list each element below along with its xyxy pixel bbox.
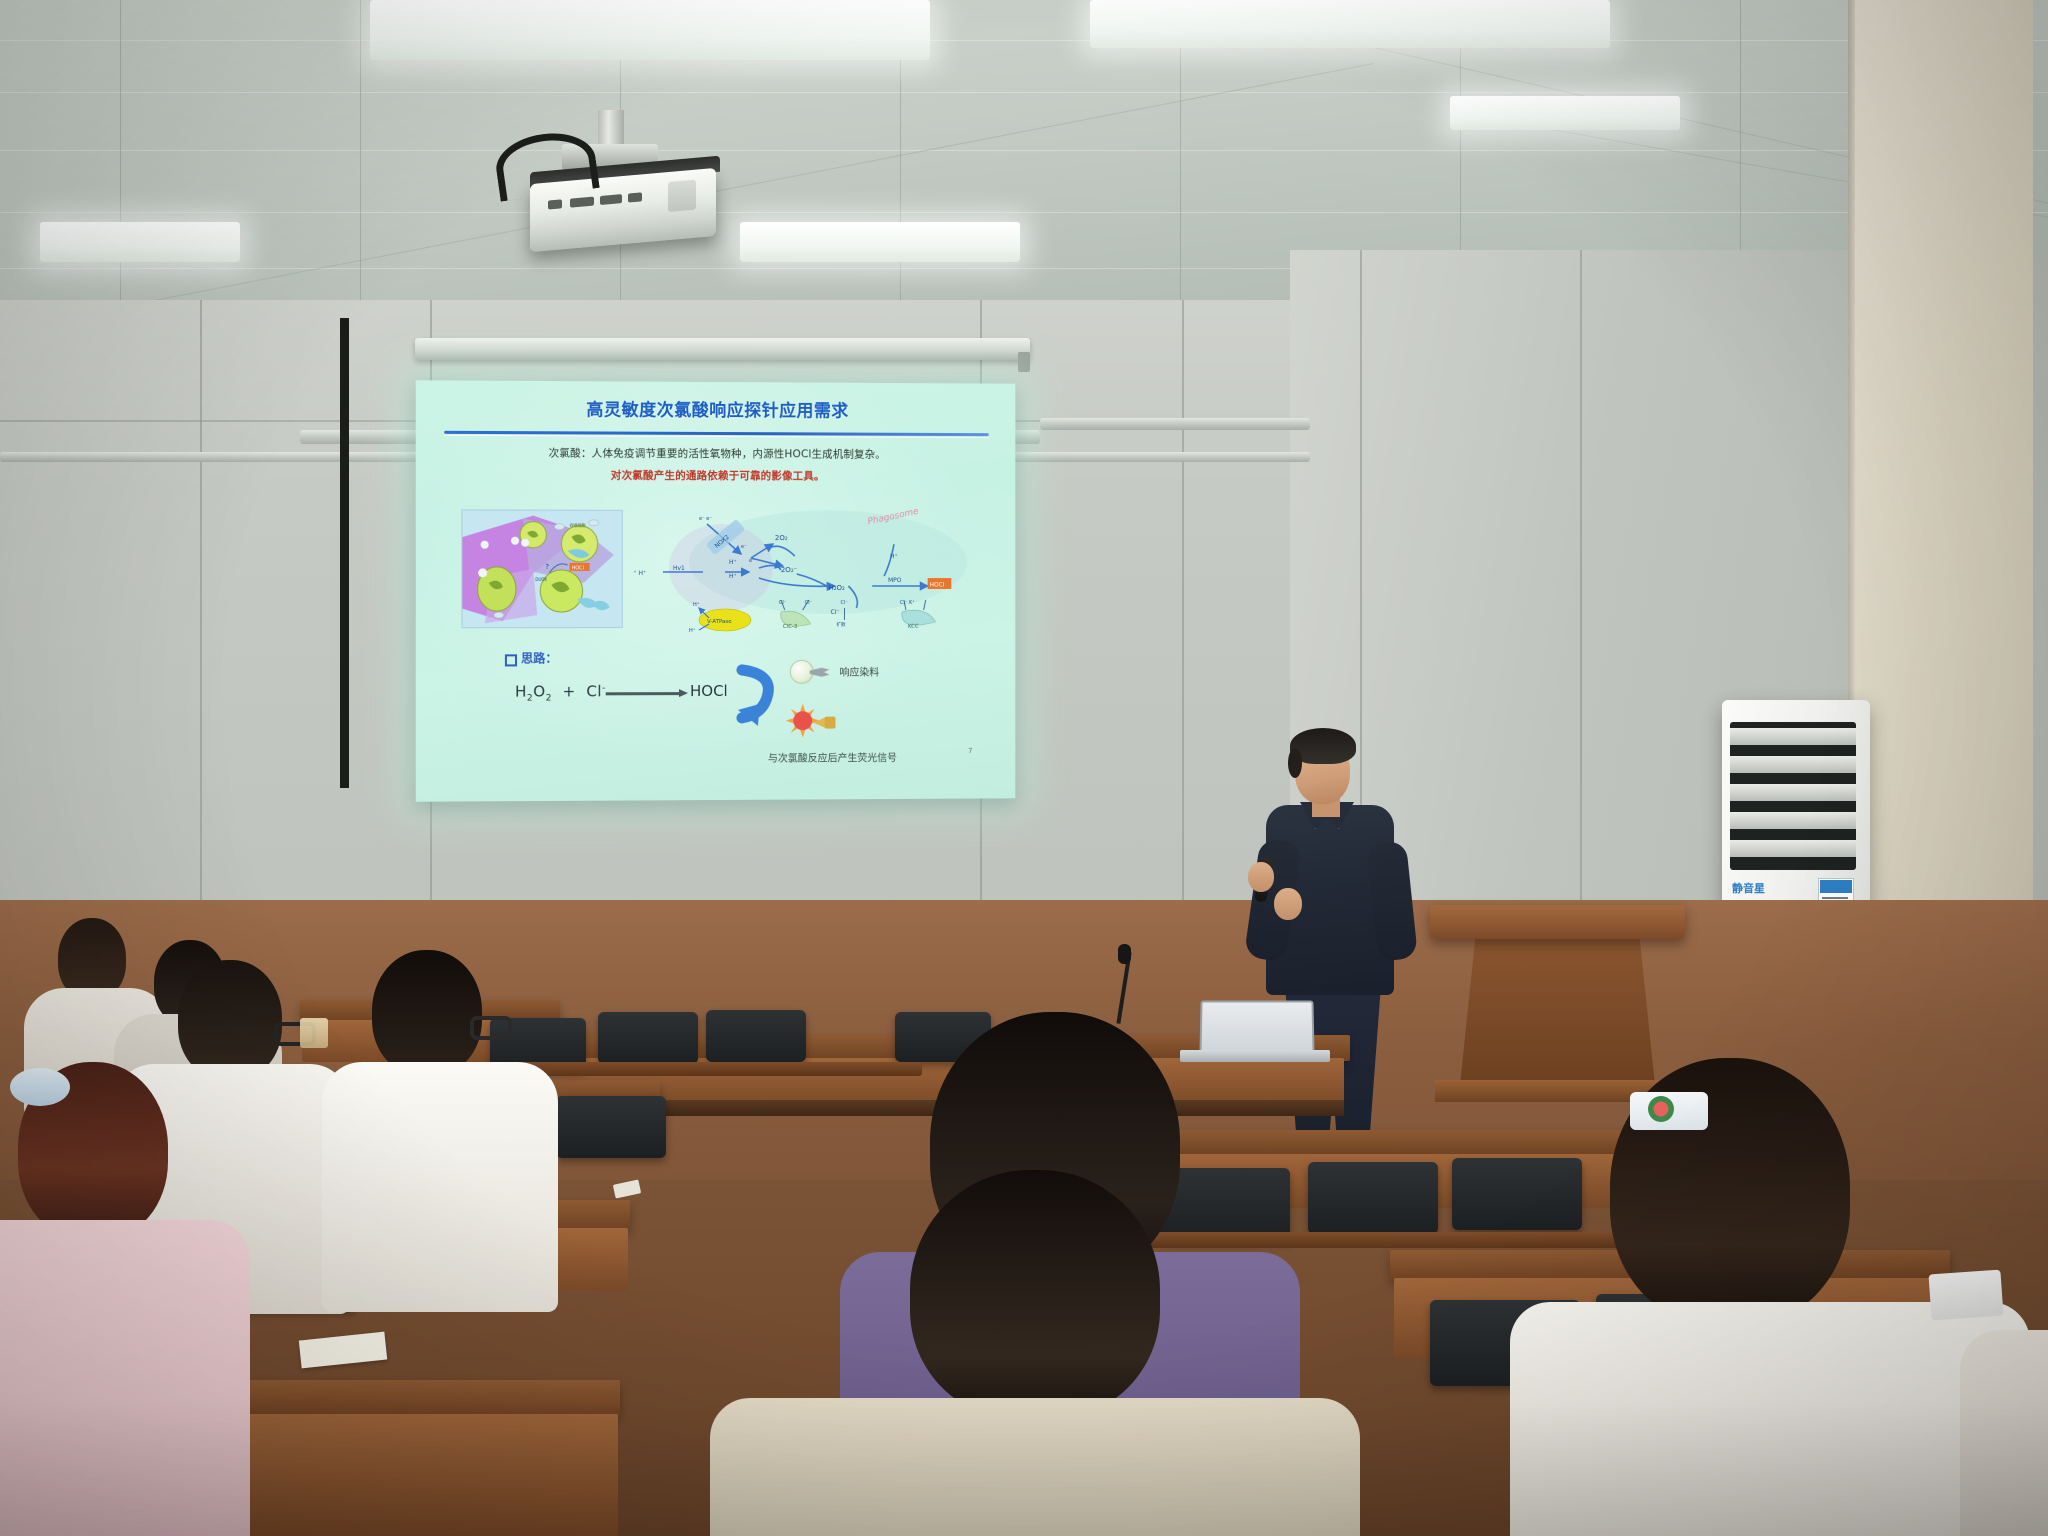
slide-figure-cell-cartoon: ? DUOX HOCl 吞噬细胞	[461, 509, 622, 628]
chair-back-3	[706, 1010, 806, 1062]
slide-title: 高灵敏度次氯酸响应探针应用需求	[416, 394, 1016, 422]
svg-text:Cl⁻: Cl⁻	[840, 600, 848, 606]
slide-body-line-2: 对次氯酸产生的通路依赖于可靠的影像工具。	[416, 467, 1016, 484]
screen-side-edge	[340, 318, 349, 788]
laptop-screen[interactable]	[1199, 1001, 1314, 1056]
svg-text:H⁺: H⁺	[689, 628, 696, 632]
svg-text:2O₂: 2O₂	[775, 533, 788, 542]
slide-page-number: 7	[968, 747, 972, 755]
screenshot-root: 安全警示标识 请勿触碰设备 注意用电安全 高灵敏度次氯酸响应探针应用需求 次氯酸…	[0, 0, 2048, 1536]
svg-text:H₂O₂: H₂O₂	[829, 583, 845, 592]
room-column: 安全警示标识 请勿触碰设备 注意用电安全	[1855, 0, 2033, 980]
chair-back-8	[1308, 1162, 1438, 1234]
presenter-left-hand	[1248, 862, 1274, 892]
presenter-right-hand	[1274, 888, 1302, 920]
svg-text:H⁺: H⁺	[729, 559, 737, 566]
chair-rail-2	[1130, 1232, 1650, 1248]
ceiling-light-5	[1450, 96, 1680, 130]
svg-text:?: ?	[545, 562, 549, 571]
svg-text:DUOX: DUOX	[535, 577, 547, 582]
svg-text:HOCl: HOCl	[572, 565, 585, 571]
svg-text:HOCl: HOCl	[930, 582, 945, 589]
bottom-shadow	[0, 1400, 2048, 1536]
svg-text:Cl⁻: Cl⁻	[831, 609, 840, 616]
svg-text:扩散: 扩散	[837, 621, 846, 628]
chair-back-7	[1160, 1168, 1290, 1240]
reaction-arrow-icon	[606, 692, 680, 695]
projector-screen-roller	[415, 338, 1030, 360]
curved-arrow-icon	[734, 664, 780, 726]
dye-label: 响应染料	[840, 664, 880, 679]
ceiling-pipe-2	[1040, 418, 1310, 430]
projection-screen: 高灵敏度次氯酸响应探针应用需求 次氯酸：人体免疫调节重要的活性氧物种，内源性HO…	[416, 380, 1016, 801]
slide-body-line-1: 次氯酸：人体免疫调节重要的活性氧物种，内源性HOCl生成机制复杂。	[416, 445, 1016, 462]
roller-knob[interactable]	[1018, 352, 1030, 372]
bench-row-right-1	[1130, 1130, 1630, 1156]
ac-brand-mark: 静音星	[1732, 880, 1765, 896]
svg-text:H⁺: H⁺	[890, 553, 898, 560]
bullet-square-icon	[505, 654, 517, 666]
reaction-equation-right: HOCl	[690, 682, 728, 700]
svg-text:e⁻: e⁻	[749, 558, 755, 564]
ceiling-light-2	[1090, 0, 1610, 48]
svg-text:e⁻ e⁻: e⁻ e⁻	[699, 516, 712, 522]
svg-text:ClC-3: ClC-3	[783, 624, 798, 630]
hair-clip-flower-icon	[1648, 1096, 1674, 1122]
svg-text:H⁺ H⁺: H⁺ H⁺	[633, 570, 646, 577]
presenter-hair-side	[1288, 748, 1302, 778]
reaction-equation-left: H2O2 + Cl-	[515, 682, 606, 703]
chair-back-6	[556, 1096, 666, 1158]
slide-figure-hocl-pathway: Phagosome e⁻ e⁻	[633, 500, 989, 632]
chair-back-9	[1452, 1158, 1582, 1230]
ceiling-light-1	[370, 0, 930, 60]
slide-caption: 与次氯酸反应后产生荧光信号	[668, 749, 996, 765]
fluorescent-tail-icon	[814, 716, 840, 730]
gooseneck-microphone-head-icon	[1118, 944, 1131, 964]
drinking-cup	[300, 1018, 328, 1048]
idea-label: 思路：	[521, 649, 557, 666]
tissue-pack	[1928, 1270, 2003, 1321]
svg-text:Cl⁻ K⁺: Cl⁻ K⁺	[900, 600, 915, 606]
podium-top	[1430, 905, 1685, 939]
svg-text:吞噬细胞: 吞噬细胞	[570, 522, 586, 528]
eyeglasses-icon	[470, 1016, 512, 1040]
podium-body	[1460, 935, 1655, 1085]
laptop-base	[1180, 1050, 1330, 1062]
ceiling-light-4	[740, 222, 1020, 262]
svg-text:H⁺: H⁺	[693, 602, 700, 608]
hair-clip-icon	[10, 1068, 70, 1106]
chair-back-2	[598, 1012, 698, 1064]
svg-text:MPO: MPO	[888, 577, 902, 584]
ceiling-light-3	[40, 222, 240, 262]
svg-text:2O₂⁻: 2O₂⁻	[781, 565, 798, 574]
svg-text:H⁺: H⁺	[729, 573, 737, 580]
svg-text:V-ATPase: V-ATPase	[707, 619, 732, 625]
svg-text:KCC: KCC	[908, 624, 919, 630]
ac-vent-grille	[1730, 722, 1856, 870]
svg-text:e⁻: e⁻	[741, 544, 747, 550]
svg-text:Hv1: Hv1	[673, 565, 685, 572]
